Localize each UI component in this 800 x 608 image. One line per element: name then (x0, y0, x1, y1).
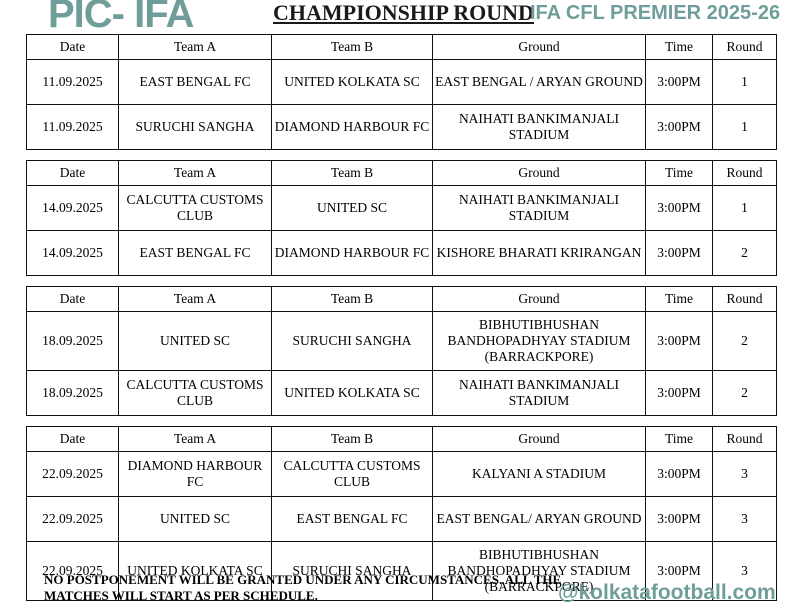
table-header-row: Date Team A Team B Ground Time Round (27, 287, 777, 312)
table-header-row: Date Team A Team B Ground Time Round (27, 427, 777, 452)
cell-date: 22.09.2025 (27, 497, 119, 542)
cell-team-a: EAST BENGAL FC (119, 231, 272, 276)
cell-team-b: DIAMOND HARBOUR FC (272, 105, 433, 150)
cell-ground: EAST BENGAL / ARYAN GROUND (433, 60, 646, 105)
cell-team-b: SURUCHI SANGHA (272, 312, 433, 371)
column-header-team-a: Team A (119, 287, 272, 312)
table-row: 18.09.2025 UNITED SC SURUCHI SANGHA BIBH… (27, 312, 777, 371)
cell-round: 1 (713, 105, 777, 150)
column-header-team-a: Team A (119, 427, 272, 452)
cell-team-b: UNITED KOLKATA SC (272, 60, 433, 105)
column-header-round: Round (713, 35, 777, 60)
cell-round: 2 (713, 371, 777, 416)
cell-team-a: EAST BENGAL FC (119, 60, 272, 105)
brand-logo-text: PIC- IFA (48, 0, 193, 34)
cell-date: 14.09.2025 (27, 186, 119, 231)
table-row: 22.09.2025 DIAMOND HARBOUR FC CALCUTTA C… (27, 452, 777, 497)
column-header-ground: Ground (433, 427, 646, 452)
cell-date: 22.09.2025 (27, 452, 119, 497)
column-header-round: Round (713, 287, 777, 312)
table-row: 14.09.2025 EAST BENGAL FC DIAMOND HARBOU… (27, 231, 777, 276)
column-header-round: Round (713, 427, 777, 452)
schedule-table: Date Team A Team B Ground Time Round 11.… (26, 34, 777, 150)
cell-date: 18.09.2025 (27, 312, 119, 371)
cell-team-a: DIAMOND HARBOUR FC (119, 452, 272, 497)
column-header-time: Time (646, 161, 713, 186)
cell-team-b: UNITED SC (272, 186, 433, 231)
cell-round: 1 (713, 186, 777, 231)
page-title: CHAMPIONSHIP ROUND (273, 0, 534, 26)
cell-round: 3 (713, 452, 777, 497)
cell-date: 11.09.2025 (27, 105, 119, 150)
table-header-row: Date Team A Team B Ground Time Round (27, 35, 777, 60)
cell-team-b: DIAMOND HARBOUR FC (272, 231, 433, 276)
column-header-date: Date (27, 287, 119, 312)
cell-time: 3:00PM (646, 312, 713, 371)
schedule-tables: Date Team A Team B Ground Time Round 11.… (0, 34, 800, 601)
table-header-row: Date Team A Team B Ground Time Round (27, 161, 777, 186)
schedule-table: Date Team A Team B Ground Time Round 18.… (26, 286, 777, 416)
column-header-team-a: Team A (119, 161, 272, 186)
footer-notice: NO POSTPONEMENT WILL BE GRANTED UNDER AN… (44, 572, 604, 605)
table-row: 22.09.2025 UNITED SC EAST BENGAL FC EAST… (27, 497, 777, 542)
cell-ground: NAIHATI BANKIMANJALI STADIUM (433, 105, 646, 150)
column-header-ground: Ground (433, 287, 646, 312)
site-watermark: @kolkatafootball.com (558, 581, 776, 605)
table-row: 11.09.2025 SURUCHI SANGHA DIAMOND HARBOU… (27, 105, 777, 150)
cell-team-a: UNITED SC (119, 312, 272, 371)
cell-ground: KALYANI A STADIUM (433, 452, 646, 497)
cell-date: 11.09.2025 (27, 60, 119, 105)
cell-ground: EAST BENGAL/ ARYAN GROUND (433, 497, 646, 542)
cell-time: 3:00PM (646, 497, 713, 542)
cell-team-b: UNITED KOLKATA SC (272, 371, 433, 416)
column-header-team-a: Team A (119, 35, 272, 60)
column-header-time: Time (646, 287, 713, 312)
column-header-round: Round (713, 161, 777, 186)
table-row: 14.09.2025 CALCUTTA CUSTOMS CLUB UNITED … (27, 186, 777, 231)
cell-round: 2 (713, 231, 777, 276)
cell-time: 3:00PM (646, 371, 713, 416)
column-header-time: Time (646, 427, 713, 452)
table-row: 18.09.2025 CALCUTTA CUSTOMS CLUB UNITED … (27, 371, 777, 416)
column-header-date: Date (27, 161, 119, 186)
cell-ground: BIBHUTIBHUSHAN BANDHOPADHYAY STADIUM (BA… (433, 312, 646, 371)
cell-round: 1 (713, 60, 777, 105)
cell-team-a: CALCUTTA CUSTOMS CLUB (119, 186, 272, 231)
cell-time: 3:00PM (646, 186, 713, 231)
cell-time: 3:00PM (646, 105, 713, 150)
cell-team-b: CALCUTTA CUSTOMS CLUB (272, 452, 433, 497)
column-header-date: Date (27, 427, 119, 452)
cell-team-b: EAST BENGAL FC (272, 497, 433, 542)
column-header-team-b: Team B (272, 287, 433, 312)
cell-ground: NAIHATI BANKIMANJALI STADIUM (433, 371, 646, 416)
cell-team-a: UNITED SC (119, 497, 272, 542)
cell-date: 14.09.2025 (27, 231, 119, 276)
column-header-team-b: Team B (272, 161, 433, 186)
column-header-ground: Ground (433, 35, 646, 60)
cell-round: 2 (713, 312, 777, 371)
column-header-date: Date (27, 35, 119, 60)
column-header-ground: Ground (433, 161, 646, 186)
column-header-team-b: Team B (272, 427, 433, 452)
cell-ground: NAIHATI BANKIMANJALI STADIUM (433, 186, 646, 231)
cell-time: 3:00PM (646, 231, 713, 276)
cell-team-a: SURUCHI SANGHA (119, 105, 272, 150)
cell-team-a: CALCUTTA CUSTOMS CLUB (119, 371, 272, 416)
cell-date: 18.09.2025 (27, 371, 119, 416)
table-row: 11.09.2025 EAST BENGAL FC UNITED KOLKATA… (27, 60, 777, 105)
cell-time: 3:00PM (646, 452, 713, 497)
cell-round: 3 (713, 497, 777, 542)
cell-time: 3:00PM (646, 60, 713, 105)
league-title: IFA CFL PREMIER 2025-26 (530, 2, 780, 25)
schedule-table: Date Team A Team B Ground Time Round 14.… (26, 160, 777, 276)
page-header: PIC- IFA CHAMPIONSHIP ROUND IFA CFL PREM… (0, 0, 800, 34)
column-header-team-b: Team B (272, 35, 433, 60)
cell-ground: KISHORE BHARATI KRIRANGAN (433, 231, 646, 276)
column-header-time: Time (646, 35, 713, 60)
